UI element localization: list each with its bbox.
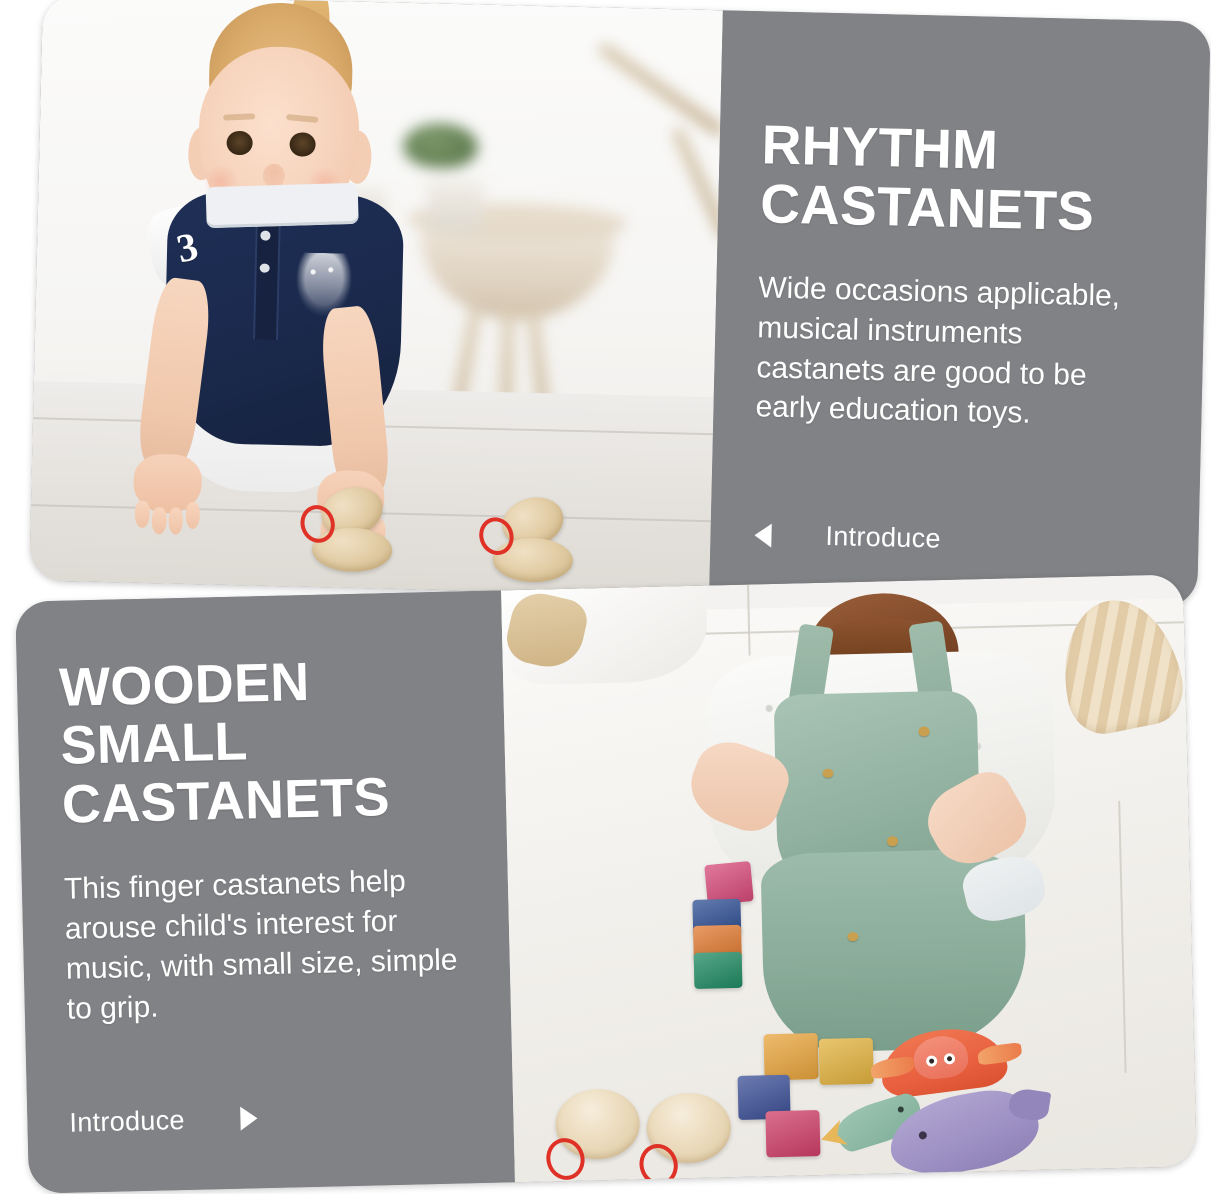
castanet-left (301, 487, 413, 580)
card-photo-child-stacking-blocks (501, 574, 1197, 1182)
card-headline: RHYTHM CASTANETS (760, 115, 1157, 243)
triangle-left-icon (754, 523, 772, 547)
wooden-stick (670, 126, 723, 240)
finger (168, 507, 183, 534)
octopus-eye (944, 1053, 956, 1065)
castanet-right (636, 1088, 758, 1183)
wooden-stick (596, 41, 722, 138)
scene-baby-crawling-with-castanets: 3 (29, 0, 723, 596)
card-photo-baby-crawling: 3 (29, 0, 723, 596)
card-headline: WOODEN SMALL CASTANETS (59, 649, 467, 833)
overall-button (918, 726, 929, 736)
finger (185, 502, 200, 529)
introduce-button-rhythm[interactable]: Introduce (754, 520, 1147, 560)
card-body-text: This finger castanets help arouse child'… (64, 860, 472, 1029)
card-copy-panel-wooden: WOODEN SMALL CASTANETS This finger casta… (15, 590, 515, 1193)
introduce-button-wooden[interactable]: Introduce (69, 1098, 474, 1139)
stacking-block-green (694, 952, 743, 989)
loose-block-magenta (766, 1110, 821, 1157)
fish-eye (897, 1106, 905, 1114)
finger (152, 507, 167, 534)
product-card-rhythm-castanets[interactable]: 3 (29, 0, 1210, 608)
loose-block-yellow (819, 1038, 874, 1085)
castanet-right (478, 497, 590, 590)
shirt-collar (205, 182, 358, 227)
whale-eye (918, 1131, 927, 1140)
loose-block-amber (764, 1033, 819, 1080)
introduce-label: Introduce (825, 521, 941, 555)
introduce-label: Introduce (69, 1104, 185, 1138)
card-copy-panel-rhythm: RHYTHM CASTANETS Wide occasions applicab… (709, 10, 1211, 607)
octopus-head (912, 1033, 971, 1082)
product-card-wooden-small-castanets[interactable]: WOODEN SMALL CASTANETS This finger casta… (15, 574, 1197, 1193)
card-body-text: Wide occasions applicable, musical instr… (755, 268, 1153, 437)
child-playing (679, 588, 1113, 1095)
octopus-eye (926, 1055, 938, 1067)
triangle-right-icon (240, 1106, 258, 1130)
scene-child-stacking-blocks-with-toys (501, 574, 1197, 1182)
finger (135, 501, 150, 528)
